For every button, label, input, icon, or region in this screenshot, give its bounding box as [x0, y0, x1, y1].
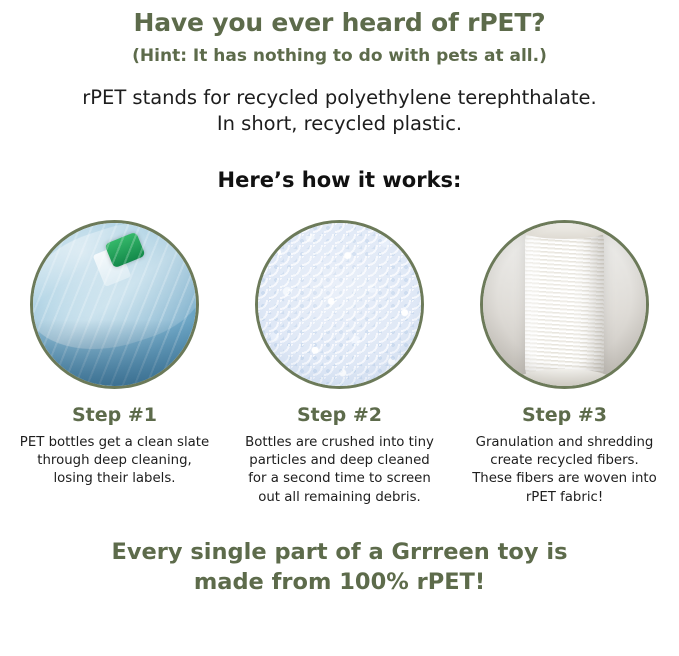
definition-block: rPET stands for recycled polyethylene te… [0, 85, 679, 138]
howto-heading: Here’s how it works: [0, 168, 679, 192]
step-1: Step #1 PET bottles get a clean slate th… [22, 220, 207, 507]
footer-statement: Every single part of a Grrreen toy is ma… [0, 538, 679, 597]
footer-line-1: Every single part of a Grrreen toy is [0, 538, 679, 568]
step-3: Step #3 Granulation and shredding create… [472, 220, 657, 507]
definition-line-2: In short, recycled plastic. [0, 111, 679, 137]
thread-spool-photo [483, 223, 646, 386]
step-2-image [255, 220, 424, 389]
step-2: Step #2 Bottles are crushed into tiny pa… [247, 220, 432, 507]
step-3-title: Step #3 [522, 404, 607, 426]
step-3-image [480, 220, 649, 389]
definition-line-1: rPET stands for recycled polyethylene te… [0, 85, 679, 111]
footer-line-2: made from 100% rPET! [0, 568, 679, 598]
step-1-title: Step #1 [72, 404, 157, 426]
step-2-text: Bottles are crushed into tiny particles … [244, 434, 436, 507]
steps-row: Step #1 PET bottles get a clean slate th… [0, 220, 679, 507]
plastic-pellets-photo [258, 223, 421, 386]
step-3-text: Granulation and shredding create recycle… [469, 434, 661, 507]
step-1-image [30, 220, 199, 389]
step-1-text: PET bottles get a clean slate through de… [19, 434, 211, 489]
infographic-page: Have you ever heard of rPET? (Hint: It h… [0, 8, 679, 656]
page-title: Have you ever heard of rPET? [0, 8, 679, 37]
plastic-bottle-photo [33, 223, 196, 386]
step-2-title: Step #2 [297, 404, 382, 426]
hint-subtitle: (Hint: It has nothing to do with pets at… [0, 46, 679, 66]
